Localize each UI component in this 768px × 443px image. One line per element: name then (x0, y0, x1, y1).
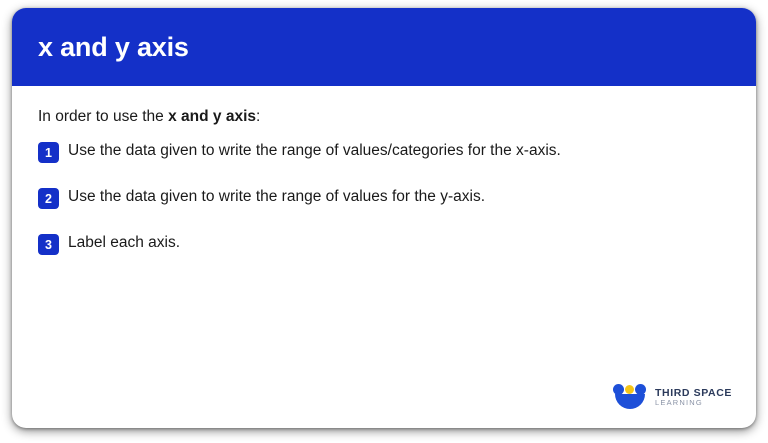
step-1-number: 1 (38, 142, 59, 163)
page-title: x and y axis (38, 32, 189, 63)
card-header: x and y axis (12, 8, 756, 86)
step-3: 3 Label each axis. (38, 232, 730, 266)
step-2-text: Use the data given to write the range of… (68, 186, 485, 208)
intro-bold: x and y axis (168, 108, 256, 125)
step-3-number: 3 (38, 234, 59, 255)
intro-suffix: : (256, 108, 260, 125)
step-2: 2 Use the data given to write the range … (38, 186, 730, 220)
logo-line-2: LEARNING (655, 399, 732, 407)
logo-text: THIRD SPACE LEARNING (655, 388, 732, 407)
intro-prefix: In order to use the (38, 108, 168, 125)
logo-smile-shape (615, 394, 645, 409)
logo-dot-yellow (625, 385, 634, 394)
step-3-text: Label each axis. (68, 232, 180, 254)
lesson-card: x and y axis In order to use the x and y… (12, 8, 756, 428)
intro-text: In order to use the x and y axis: (38, 108, 730, 126)
logo-mark-icon (613, 384, 647, 410)
card-body: In order to use the x and y axis: 1 Use … (12, 86, 756, 428)
step-1-text: Use the data given to write the range of… (68, 140, 561, 162)
step-1: 1 Use the data given to write the range … (38, 140, 730, 174)
logo-line-1: THIRD SPACE (655, 388, 732, 399)
third-space-learning-logo: THIRD SPACE LEARNING (613, 384, 732, 410)
step-2-number: 2 (38, 188, 59, 209)
